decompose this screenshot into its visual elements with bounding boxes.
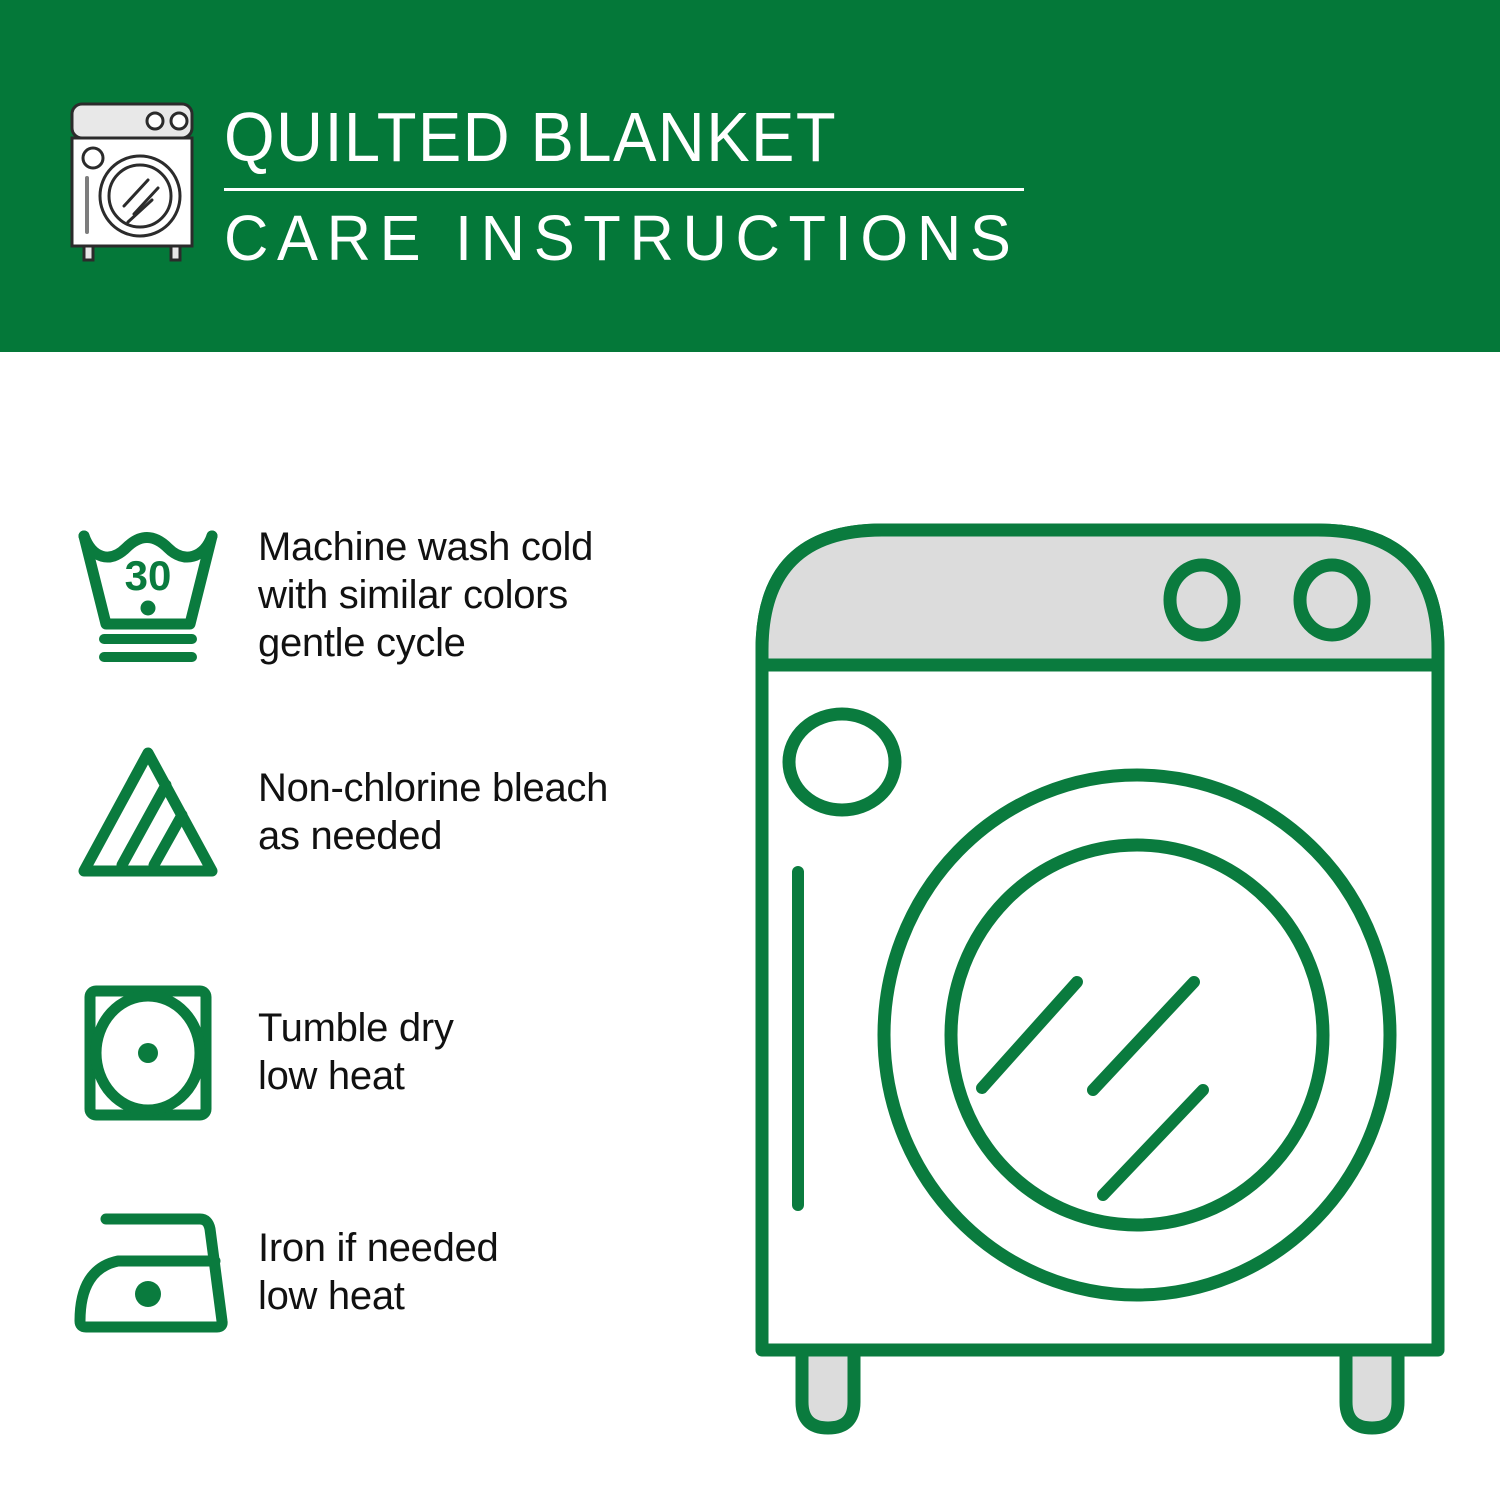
header-title-group: QUILTED BLANKET CARE INSTRUCTIONS <box>224 96 1053 273</box>
wash-temperature-value: 30 <box>125 552 172 599</box>
care-line: Machine wash cold <box>258 523 593 571</box>
care-row-machine-wash: 30 Machine wash cold with similar colors… <box>70 520 710 670</box>
iron-low-heat-icon <box>70 1197 240 1347</box>
care-text-machine-wash: Machine wash cold with similar colors ge… <box>258 523 593 667</box>
care-instructions-list: 30 Machine wash cold with similar colors… <box>0 352 740 1500</box>
control-knob-left <box>1170 565 1234 635</box>
page-subtitle: CARE INSTRUCTIONS <box>224 203 1019 273</box>
control-knob-right <box>1300 565 1364 635</box>
care-row-iron: Iron if needed low heat <box>70 1197 710 1347</box>
care-text-iron: Iron if needed low heat <box>258 1224 498 1320</box>
care-row-bleach: Non-chlorine bleach as needed <box>70 737 710 887</box>
front-load-washing-machine-illustration <box>740 490 1460 1440</box>
non-chlorine-bleach-triangle-icon <box>70 737 240 887</box>
page-title: QUILTED BLANKET <box>224 100 995 174</box>
detergent-dispenser <box>789 714 895 810</box>
care-line: with similar colors <box>258 571 593 619</box>
header-content: QUILTED BLANKET CARE INSTRUCTIONS <box>62 96 1053 273</box>
care-text-tumble-dry: Tumble dry low heat <box>258 1004 454 1100</box>
washing-machine-icon <box>62 96 202 266</box>
tumble-dry-low-heat-icon <box>70 977 240 1127</box>
care-line: Iron if needed <box>258 1224 498 1272</box>
leg-left <box>802 1350 854 1428</box>
header-banner: QUILTED BLANKET CARE INSTRUCTIONS <box>0 0 1500 352</box>
care-line: low heat <box>258 1272 498 1320</box>
care-line: Non-chlorine bleach <box>258 764 608 812</box>
care-line: low heat <box>258 1052 454 1100</box>
wash-tub-30-gentle-icon: 30 <box>70 520 240 670</box>
leg-right <box>1346 1350 1398 1428</box>
care-text-bleach: Non-chlorine bleach as needed <box>258 764 608 860</box>
care-row-tumble-dry: Tumble dry low heat <box>70 977 710 1127</box>
title-divider <box>224 188 1024 191</box>
care-line: gentle cycle <box>258 619 593 667</box>
care-line: as needed <box>258 812 608 860</box>
care-line: Tumble dry <box>258 1004 454 1052</box>
